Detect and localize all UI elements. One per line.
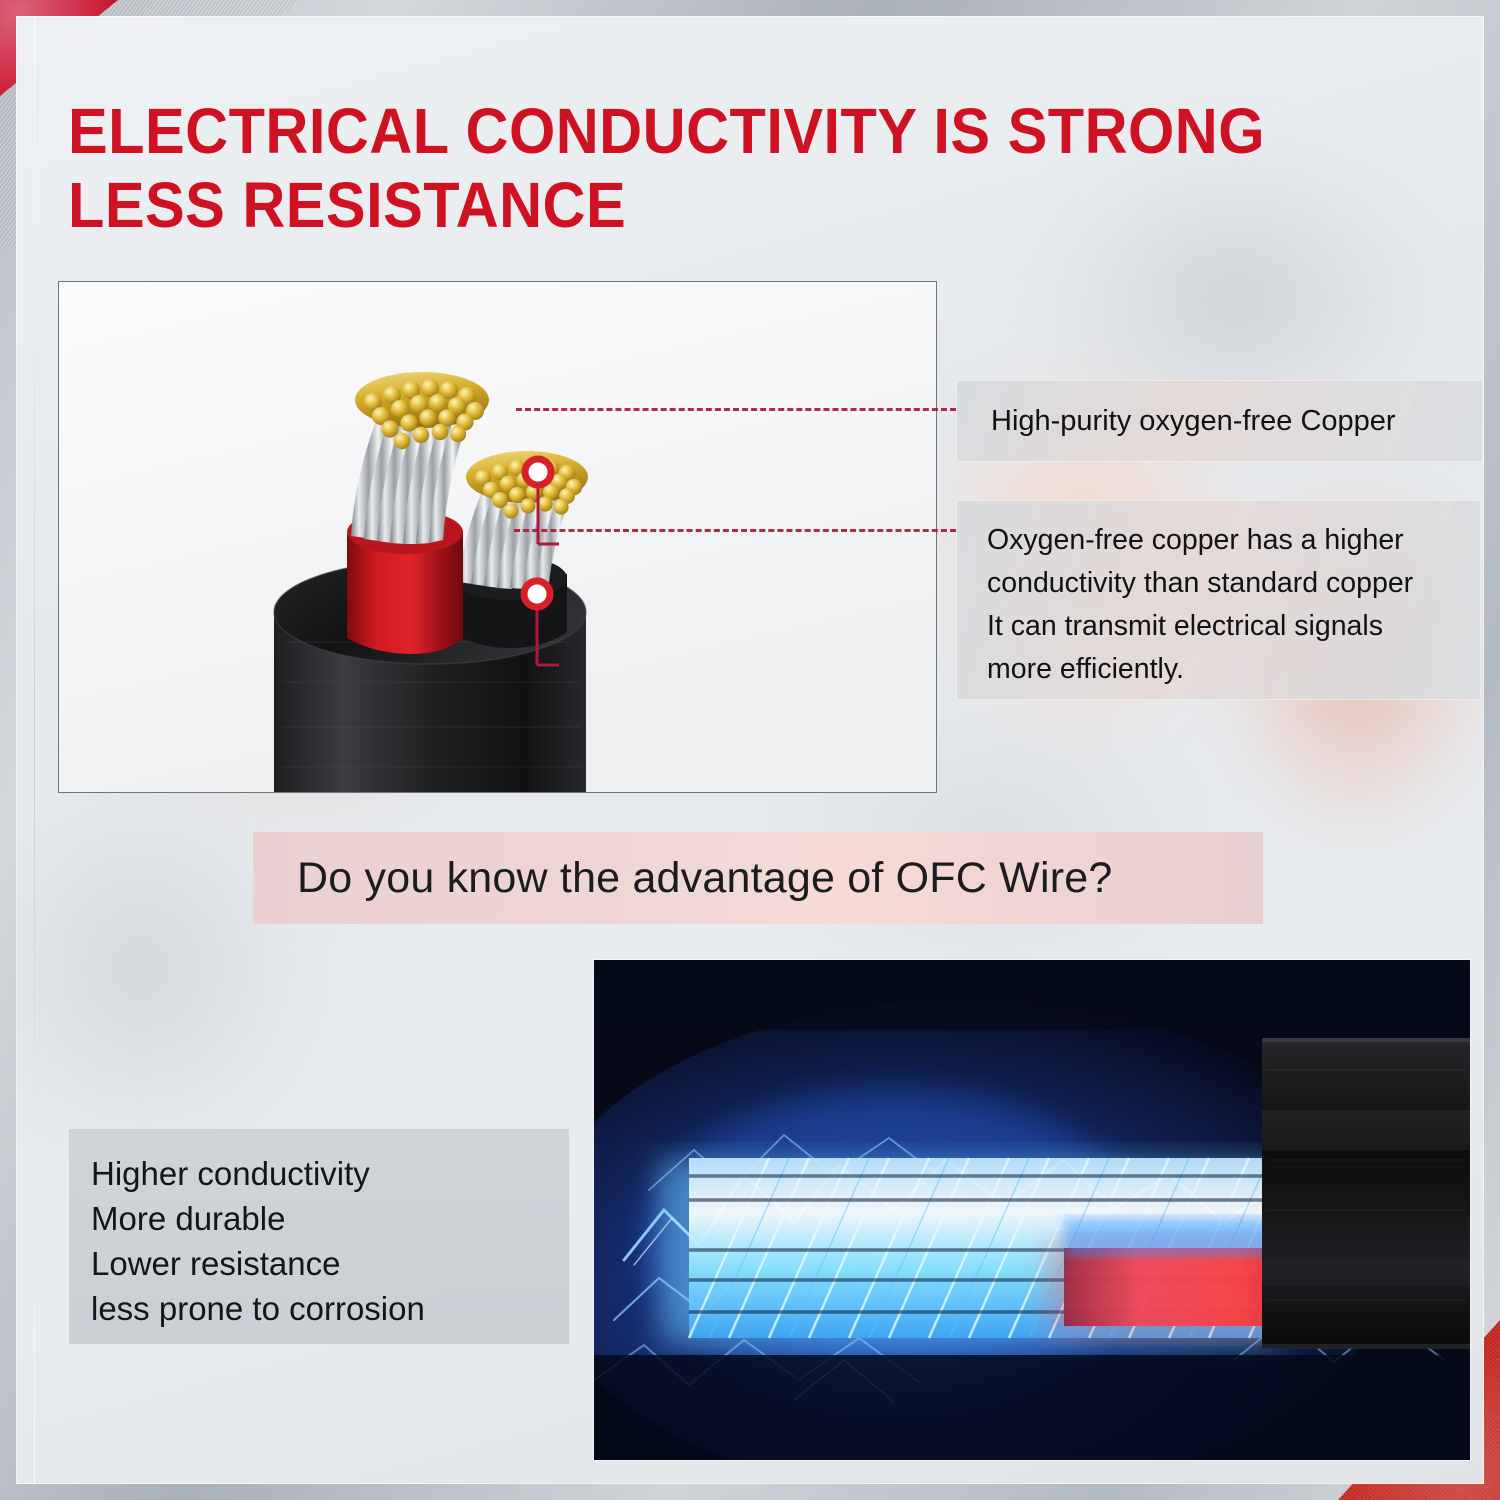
card-edge-line: [34, 16, 35, 1484]
benefits-box: Higher conductivity More durable Lower r…: [69, 1129, 569, 1344]
callout-high-purity: High-purity oxygen-free Copper: [956, 380, 1483, 462]
question-banner-text: Do you know the advantage of OFC Wire?: [253, 854, 1112, 903]
leader-line-conductivity: [514, 529, 956, 532]
callout-high-purity-text: High-purity oxygen-free Copper: [957, 404, 1396, 438]
electrified-copper-wire-photo: [594, 960, 1470, 1460]
benefit-item: Higher conductivity: [91, 1151, 569, 1196]
cable-illustration: [59, 282, 936, 792]
content-card: ELECTRICAL CONDUCTIVITY IS STRONG LESS R…: [16, 16, 1484, 1484]
leader-line-high-purity: [516, 408, 956, 411]
callout-conductivity-text: Oxygen-free copper has a higher conducti…: [987, 519, 1480, 691]
question-banner: Do you know the advantage of OFC Wire?: [253, 832, 1263, 924]
cable-cross-section-photo: [58, 281, 937, 793]
page-title: ELECTRICAL CONDUCTIVITY IS STRONG LESS R…: [68, 94, 1314, 242]
infographic-canvas: ELECTRICAL CONDUCTIVITY IS STRONG LESS R…: [0, 0, 1500, 1500]
electric-wire-illustration: [594, 960, 1470, 1460]
benefit-item: Lower resistance: [91, 1241, 569, 1286]
callout-conductivity: Oxygen-free copper has a higher conducti…: [956, 500, 1481, 700]
benefit-item: less prone to corrosion: [91, 1286, 569, 1331]
benefit-item: More durable: [91, 1196, 569, 1241]
